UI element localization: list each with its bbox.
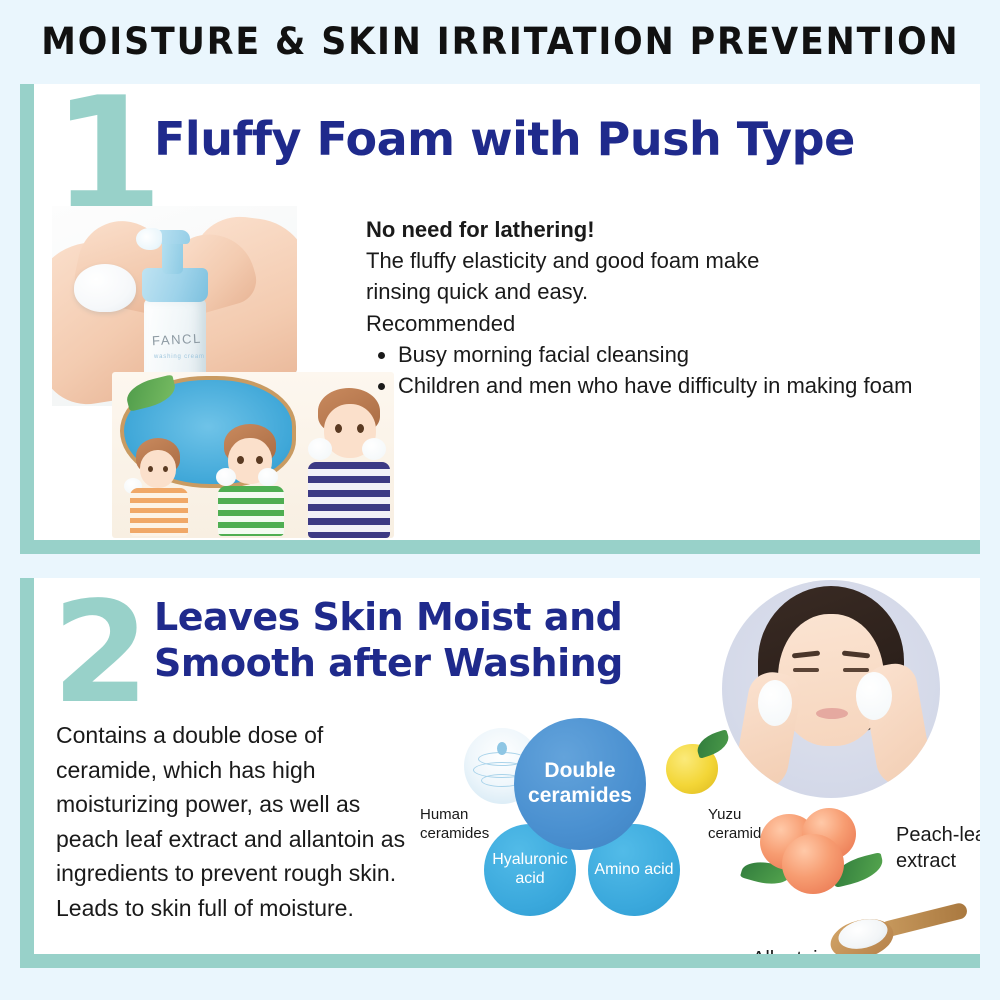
foam-squirt-icon (136, 228, 162, 250)
section-1-content: 1 Fluffy Foam with Push Type FANCL washi… (34, 84, 980, 540)
foam-on-cheek-icon (856, 672, 892, 720)
child-eye (256, 456, 263, 464)
woman-mouth-shape (816, 708, 848, 719)
section-1-line: rinsing quick and easy. (366, 276, 966, 307)
child-foam-icon (258, 468, 278, 486)
woman-washing-face-photo (722, 580, 940, 798)
section-2-heading-line2: Smooth after Washing (154, 640, 714, 686)
section-2-heading: Leaves Skin Moist and Smooth after Washi… (154, 594, 714, 687)
yuzu-fruit-icon (666, 734, 728, 796)
woman-closed-eye (843, 668, 869, 672)
child-striped-shirt (130, 488, 188, 536)
child-eye (163, 466, 168, 472)
woman-closed-eye (793, 668, 819, 672)
bottle-brand-label: FANCL (152, 331, 203, 349)
caption-peach-leaf-extract: Peach-leaf extract (896, 822, 980, 874)
section-card-1: 1 Fluffy Foam with Push Type FANCL washi… (20, 84, 980, 554)
child-foam-icon (216, 468, 236, 486)
child-striped-shirt (218, 486, 284, 536)
child-figure (122, 438, 196, 536)
droplet-shape (497, 742, 507, 755)
child-eye (148, 466, 153, 472)
section-1-lead: No need for lathering! (366, 214, 966, 245)
foam-on-cheek-icon (758, 680, 792, 726)
child-foam-icon (362, 438, 386, 460)
child-figure (300, 388, 394, 538)
foam-blob-icon (74, 264, 136, 312)
section-1-bullet-list: Busy morning facial cleansing Children a… (366, 339, 966, 401)
child-foam-icon (308, 438, 332, 460)
child-striped-shirt (308, 462, 390, 538)
yuzu-leaf-shape (694, 729, 733, 759)
peaches-icon (756, 806, 886, 898)
section-1-body: No need for lathering! The fluffy elasti… (366, 214, 966, 401)
child-eye (357, 424, 364, 433)
section-2-heading-line1: Leaves Skin Moist and (154, 594, 714, 640)
list-item: Busy morning facial cleansing (398, 339, 966, 370)
section-card-2: 2 Leaves Skin Moist and Smooth after Was… (20, 578, 980, 968)
section-1-line: Recommended (366, 308, 966, 339)
caption-human-ceramides: Human ceramides (420, 806, 502, 844)
banner: Moisture & Skin Irritation Prevention (0, 0, 1000, 82)
child-face-shape (140, 450, 176, 488)
wooden-spoon-powder-icon (830, 908, 970, 954)
kids-washing-illustration (112, 372, 394, 538)
list-item: Children and men who have difficulty in … (398, 370, 966, 401)
section-1-line: The fluffy elasticity and good foam make (366, 245, 966, 276)
section-number-2: 2 (52, 584, 149, 724)
child-figure (208, 424, 294, 536)
peach-fruit-shape (782, 834, 844, 894)
section-2-content: 2 Leaves Skin Moist and Smooth after Was… (34, 578, 980, 954)
child-eye (237, 456, 244, 464)
bottle-sub-label: washing cream (154, 354, 205, 360)
child-eye (335, 424, 342, 433)
section-2-paragraph: Contains a double dose of ceramide, whic… (56, 718, 416, 925)
section-1-heading: Fluffy Foam with Push Type (154, 112, 855, 166)
infographic-page: Moisture & Skin Irritation Prevention 1 … (0, 0, 1000, 1000)
ingredient-bubble-diagram: Double ceramides Hyaluronic acid Amino a… (452, 718, 722, 938)
caption-allantoin: Allantoin (752, 948, 829, 954)
page-title: Moisture & Skin Irritation Prevention (41, 20, 959, 63)
bubble-double-ceramides: Double ceramides (514, 718, 646, 850)
